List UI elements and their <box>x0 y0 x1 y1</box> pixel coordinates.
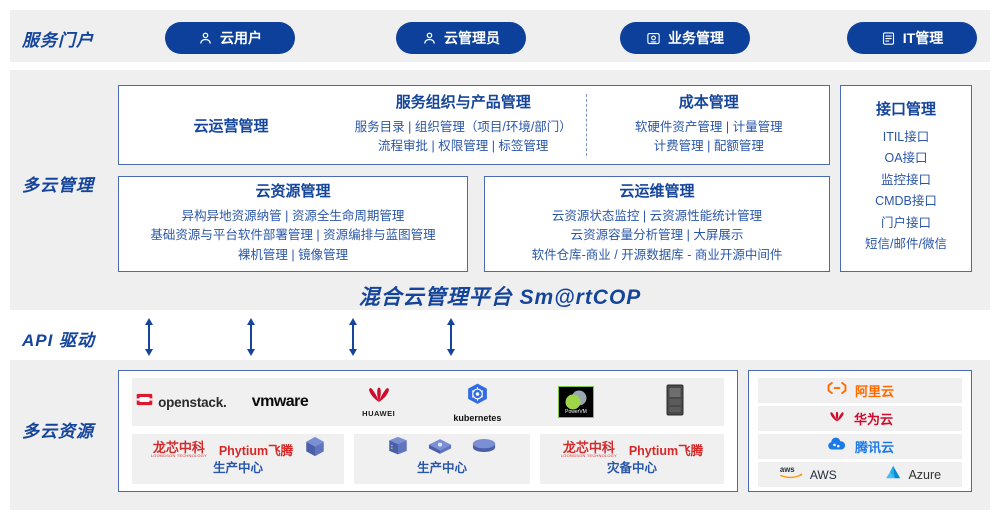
aws-label: AWS <box>810 468 837 482</box>
openstack-label: openstack. <box>158 395 227 410</box>
aws-logo: aws <box>779 464 805 485</box>
svg-text:aws: aws <box>780 465 795 474</box>
box-line: 异构异地资源纳管 | 资源全生命周期管理 <box>182 207 405 226</box>
huawei-label: HUAWEI <box>362 409 395 418</box>
interface-item: 门户接口 <box>881 213 931 235</box>
interface-item: 监控接口 <box>881 170 931 192</box>
rail-label-api: API 驱动 <box>22 326 95 351</box>
portal-pill-cloud-admin[interactable]: 云管理员 <box>396 22 526 54</box>
hypervisor-server-rack <box>625 378 724 426</box>
cloud-maintenance-mgmt-box: 云运维管理 云资源状态监控 | 云资源性能统计管理 云资源容量分析管理 | 大屏… <box>484 176 830 272</box>
alibaba-cloud-logo <box>826 381 848 400</box>
azure-label: Azure <box>908 468 941 482</box>
api-arrow <box>444 318 458 356</box>
azure-logo <box>885 465 903 485</box>
column-line: 计费管理 | 配额管理 <box>595 137 824 156</box>
public-cloud-huawei: 华为云 <box>758 406 962 431</box>
box-line: 基础资源与平台软件部署管理 | 资源编排与蓝图管理 <box>150 226 435 245</box>
huawei-cloud-logo <box>827 410 847 428</box>
rail-label-portal: 服务门户 <box>22 26 94 51</box>
rail-label-management: 多云管理 <box>22 171 94 196</box>
portal-pill-it-mgmt[interactable]: IT管理 <box>847 22 977 54</box>
user-icon <box>422 31 437 46</box>
interface-item: 短信/邮件/微信 <box>865 234 947 256</box>
box-line: 云资源状态监控 | 云资源性能统计管理 <box>552 207 762 226</box>
hypervisor-vmware: vmware <box>231 378 330 426</box>
api-arrow <box>346 318 360 356</box>
server-icon <box>881 31 896 46</box>
loongson-label-cn: 龙芯中科 <box>563 441 615 454</box>
column-title: 成本管理 <box>595 94 824 113</box>
api-arrow <box>244 318 258 356</box>
hypervisor-row: openstack. vmware HUAWEI <box>132 378 724 426</box>
loongson-label-en: LOONGSON TECHNOLOGY <box>151 454 207 458</box>
public-cloud-label: 阿里云 <box>855 381 894 400</box>
portal-pill-label: 云用户 <box>220 28 262 48</box>
kubernetes-label: kubernetes <box>453 413 501 423</box>
portal-pill-label: IT管理 <box>903 28 943 48</box>
hypervisor-kubernetes: kubernetes <box>428 378 527 426</box>
user-icon <box>198 31 213 46</box>
phytium-label: Phytium飞腾 <box>219 440 293 459</box>
public-cloud-label: 华为云 <box>854 409 893 428</box>
datacenter-label: 生产中心 <box>354 462 530 476</box>
cube-icon <box>305 436 325 462</box>
box-title: 云资源管理 <box>255 183 330 202</box>
public-cloud-aws: aws AWS <box>779 464 837 485</box>
datacenter-group-production-1: 龙芯中科 LOONGSON TECHNOLOGY Phytium飞腾 生产中心 <box>132 434 344 484</box>
box-title: 接口管理 <box>876 101 936 120</box>
column-title: 服务组织与产品管理 <box>349 94 578 113</box>
interface-item: OA接口 <box>884 148 927 170</box>
datacenter-label: 灾备中心 <box>540 462 724 476</box>
switch-icon <box>428 437 452 461</box>
public-cloud-aws-azure: aws AWS Azure <box>758 462 962 487</box>
hypervisor-huawei: HUAWEI <box>329 378 428 426</box>
portal-pill-business-mgmt[interactable]: 业务管理 <box>620 22 750 54</box>
cloud-operations-side-title: 云运营管理 <box>119 115 343 136</box>
hypervisor-powervm: PowerVM <box>527 378 626 426</box>
loongson-label-en: LOONGSON TECHNOLOGY <box>561 454 617 458</box>
cloud-resource-mgmt-box: 云资源管理 异构异地资源纳管 | 资源全生命周期管理 基础资源与平台软件部署管理… <box>118 176 468 272</box>
kubernetes-logo <box>465 382 490 412</box>
interface-item: ITIL接口 <box>883 127 930 149</box>
public-cloud-azure: Azure <box>885 465 941 485</box>
loongson-logo: 龙芯中科 LOONGSON TECHNOLOGY <box>561 441 617 458</box>
box-line: 云资源容量分析管理 | 大屏展示 <box>571 226 744 245</box>
rail-label-resources: 多云资源 <box>22 417 94 442</box>
loongson-label-cn: 龙芯中科 <box>153 441 205 454</box>
hypervisor-openstack: openstack. <box>132 378 231 426</box>
cost-mgmt-column: 成本管理 软硬件资产管理 | 计量管理 计费管理 | 配额管理 <box>589 94 830 157</box>
storage-icon <box>472 438 496 460</box>
powervm-label: PowerVM <box>565 409 587 415</box>
portal-pill-label: 云管理员 <box>444 28 500 48</box>
vmware-label: vmware <box>252 393 309 411</box>
server-icon <box>388 436 408 462</box>
tencent-cloud-logo <box>826 437 848 457</box>
business-icon <box>646 31 661 46</box>
column-line: 流程审批 | 权限管理 | 标签管理 <box>349 137 578 156</box>
interface-item: CMDB接口 <box>875 191 937 213</box>
box-title: 云运维管理 <box>619 183 694 202</box>
box-line: 裸机管理 | 镜像管理 <box>238 246 348 265</box>
interface-mgmt-box: 接口管理 ITIL接口 OA接口 监控接口 CMDB接口 门户接口 短信/邮件/… <box>840 85 972 272</box>
openstack-logo <box>136 391 153 413</box>
public-cloud-alibaba: 阿里云 <box>758 378 962 403</box>
column-line: 软硬件资产管理 | 计量管理 <box>595 118 824 137</box>
huawei-logo <box>364 386 394 408</box>
portal-pill-cloud-user[interactable]: 云用户 <box>165 22 295 54</box>
architecture-diagram: 服务门户 多云管理 API 驱动 多云资源 云用户 云管理员 业务管理 <box>0 0 1000 518</box>
datacenter-label: 生产中心 <box>132 462 344 476</box>
api-arrow <box>142 318 156 356</box>
dashed-divider <box>586 94 587 156</box>
datacenter-group-production-2: 生产中心 <box>354 434 530 484</box>
datacenter-group-disaster-recovery: 龙芯中科 LOONGSON TECHNOLOGY Phytium飞腾 灾备中心 <box>540 434 724 484</box>
service-product-mgmt-column: 服务组织与产品管理 服务目录 | 组织管理（项目/环境/部门） 流程审批 | 权… <box>343 94 584 157</box>
cloud-operations-box: 云运营管理 服务组织与产品管理 服务目录 | 组织管理（项目/环境/部门） 流程… <box>118 85 830 165</box>
public-cloud-label: 腾讯云 <box>855 437 894 456</box>
portal-pill-label: 业务管理 <box>668 28 724 48</box>
powervm-logo: PowerVM <box>558 386 594 418</box>
public-cloud-tencent: 腾讯云 <box>758 434 962 459</box>
platform-name: 混合云管理平台 Sm@rtCOP <box>0 281 1000 311</box>
loongson-logo: 龙芯中科 LOONGSON TECHNOLOGY <box>151 441 207 458</box>
server-rack-icon <box>666 384 684 421</box>
column-line: 服务目录 | 组织管理（项目/环境/部门） <box>349 118 578 137</box>
box-line: 软件仓库-商业 / 开源数据库 - 商业开源中间件 <box>532 246 783 265</box>
phytium-label: Phytium飞腾 <box>629 440 703 459</box>
